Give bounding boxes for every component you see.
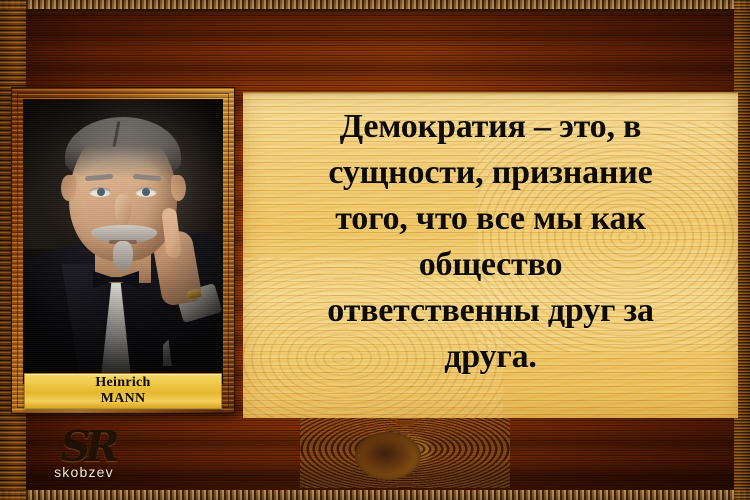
nameplate-last-name: MANN bbox=[101, 391, 146, 407]
quote-line: сущности, признание bbox=[328, 150, 652, 196]
quote-line: друга. bbox=[444, 334, 536, 380]
panel-top-seam bbox=[243, 92, 738, 95]
nameplate-first-name: Heinrich bbox=[95, 375, 150, 391]
portrait-photo bbox=[23, 99, 223, 384]
plank-top-shadow bbox=[0, 9, 750, 13]
portrait-frame bbox=[12, 88, 234, 413]
plank-top-edge bbox=[0, 0, 750, 9]
quote-poster: Демократия – это, в сущности, признание … bbox=[0, 0, 750, 500]
plank-bottom-edge bbox=[0, 490, 750, 500]
quote-line: того, что все мы как bbox=[335, 196, 646, 242]
quote-text-block: Демократия – это, в сущности, признание … bbox=[243, 100, 738, 412]
quote-line: общество bbox=[419, 242, 563, 288]
wood-knot-core bbox=[355, 432, 421, 480]
quote-line: ответственны друг за bbox=[327, 288, 654, 334]
quote-line: Демократия – это, в bbox=[340, 104, 641, 150]
photo-film-grain bbox=[23, 99, 223, 384]
nameplate: Heinrich MANN bbox=[24, 373, 222, 409]
